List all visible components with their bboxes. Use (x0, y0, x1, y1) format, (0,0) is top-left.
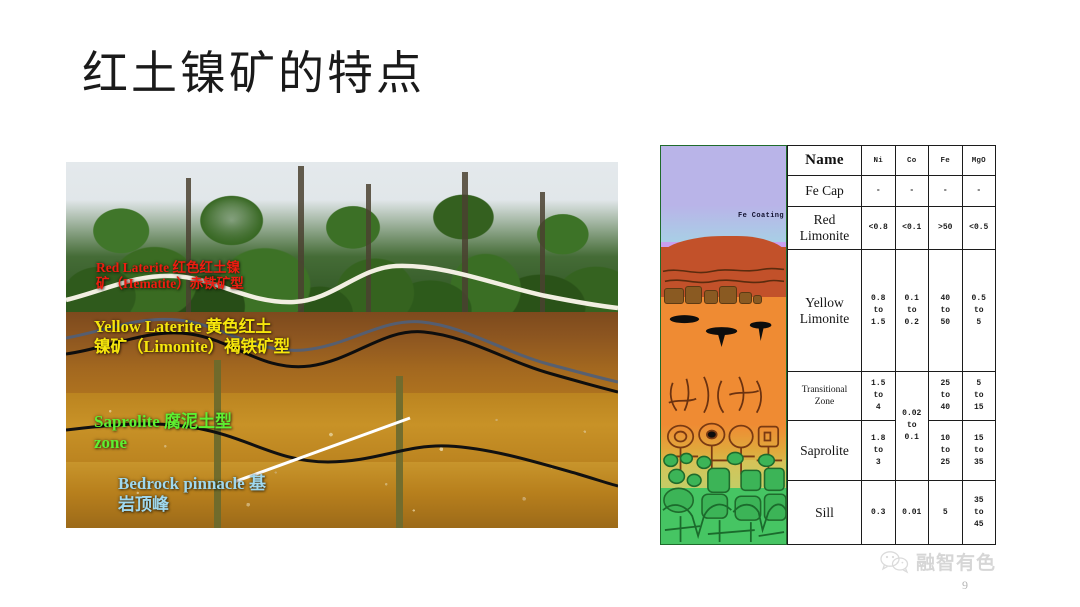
composition-table: Name Ni Co Fe MgO Fe Cap - - - - (787, 145, 996, 545)
cell-fe-cap-ni: - (862, 176, 896, 207)
slide-canvas: 红土镍矿的特点 Red Laterite 红色红土镍 矿（Hemat (0, 0, 1080, 607)
table-row: Saprolite 1.8 to 3 10 to 25 15 to 35 (788, 421, 996, 481)
table-row: Sill 0.3 0.01 5 35 to 45 (788, 481, 996, 545)
cell-red-limonite-fe: >50 (929, 206, 963, 249)
table-row: Yellow Limonite 0.8 to 1.5 0.1 to 0.2 40… (788, 250, 996, 372)
cell-fe-cap-fe: - (929, 176, 963, 207)
laterite-outcrop-photo: Red Laterite 红色红土镍 矿（Hematite）赤铁矿型 Yello… (66, 162, 618, 528)
column-header-name: Name (788, 146, 862, 176)
soil-profile-diagram: Fe Coating (660, 145, 787, 545)
cell-yellow-limonite-ni: 0.8 to 1.5 (862, 250, 896, 372)
cell-sill-ni: 0.3 (862, 481, 896, 545)
photo-label-yellow-laterite: Yellow Laterite 黄色红土 镍矿（Limonite）褐铁矿型 (94, 317, 290, 357)
table-header-row: Name Ni Co Fe MgO (788, 146, 996, 176)
cell-red-limonite-mgo: <0.5 (962, 206, 996, 249)
cell-red-limonite-ni: <0.8 (862, 206, 896, 249)
cell-yellow-limonite-co: 0.1 to 0.2 (895, 250, 929, 372)
photo-label-bedrock-pinnacle: Bedrock pinnacle 基 岩顶峰 (118, 474, 266, 515)
row-label-red-limonite: Red Limonite (788, 206, 862, 249)
photo-label-red-laterite: Red Laterite 红色红土镍 矿（Hematite）赤铁矿型 (96, 260, 244, 293)
table-row: Fe Cap - - - - (788, 176, 996, 207)
page-number: 9 (962, 578, 968, 593)
watermark: 融智有色 (880, 548, 996, 575)
cell-transitional-zone-fe: 25 to 40 (929, 371, 963, 420)
profile-and-table-figure: Fe Coating Name Ni Co Fe MgO Fe Cap (660, 145, 996, 545)
cell-saprolite-mgo: 15 to 35 (962, 421, 996, 481)
cell-yellow-limonite-mgo: 0.5 to 5 (962, 250, 996, 372)
fe-coating-annotation: Fe Coating (738, 212, 784, 220)
row-label-sill: Sill (788, 481, 862, 545)
cell-transitional-zone-ni: 1.5 to 4 (862, 371, 896, 420)
cell-fe-cap-mgo: - (962, 176, 996, 207)
diagram-sketch-overlay (661, 146, 786, 544)
cell-sill-mgo: 35 to 45 (962, 481, 996, 545)
table-row: Red Limonite <0.8 <0.1 >50 <0.5 (788, 206, 996, 249)
cell-co-merged: 0.02 to 0.1 (895, 371, 929, 480)
cell-sill-co: 0.01 (895, 481, 929, 545)
cell-saprolite-ni: 1.8 to 3 (862, 421, 896, 481)
column-header-ni: Ni (862, 146, 896, 176)
cell-sill-fe: 5 (929, 481, 963, 545)
cell-yellow-limonite-fe: 40 to 50 (929, 250, 963, 372)
watermark-text: 融智有色 (916, 548, 996, 575)
cell-fe-cap-co: - (895, 176, 929, 207)
cell-transitional-zone-mgo: 5 to 15 (962, 371, 996, 420)
cell-red-limonite-co: <0.1 (895, 206, 929, 249)
row-label-yellow-limonite: Yellow Limonite (788, 250, 862, 372)
column-header-co: Co (895, 146, 929, 176)
table-row: Transitional Zone 1.5 to 4 0.02 to 0.1 2… (788, 371, 996, 420)
row-label-transitional-zone: Transitional Zone (788, 371, 862, 420)
photo-label-saprolite: Saprolite 腐泥土型 zone (94, 412, 232, 453)
wechat-icon (880, 550, 910, 574)
row-label-saprolite: Saprolite (788, 421, 862, 481)
row-label-fe-cap: Fe Cap (788, 176, 862, 207)
page-title: 红土镍矿的特点 (82, 48, 425, 101)
column-header-mgo: MgO (962, 146, 996, 176)
cell-saprolite-fe: 10 to 25 (929, 421, 963, 481)
column-header-fe: Fe (929, 146, 963, 176)
